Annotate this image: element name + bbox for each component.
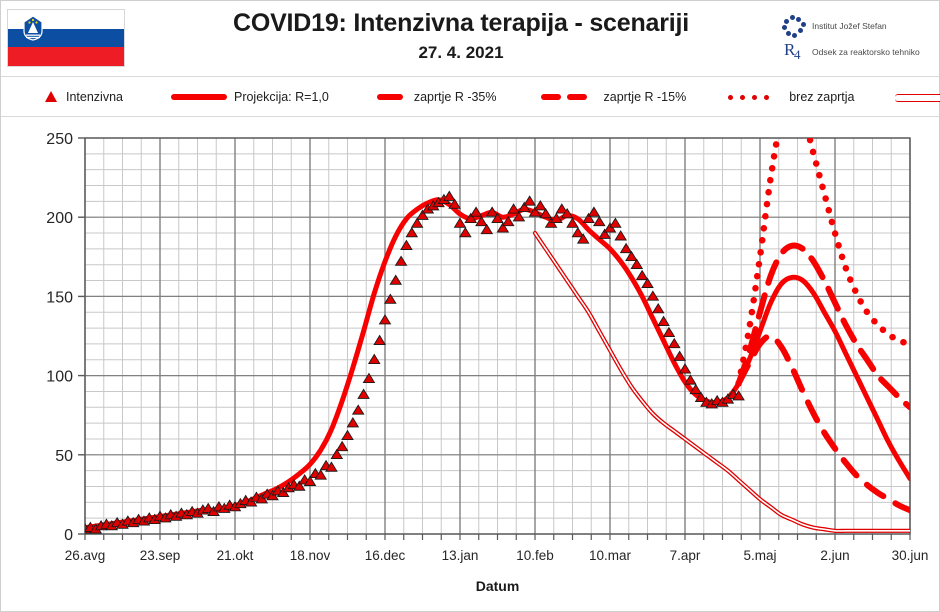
x-axis-tick-label: 10.mar	[589, 548, 632, 563]
y-axis-tick-label: 150	[46, 289, 73, 306]
page-subtitle: 27. 4. 2021	[141, 41, 781, 65]
logo-line-2: R 4 Odsek za reaktorsko tehniko	[781, 39, 920, 65]
flag-band-red	[8, 47, 124, 66]
legend-item-projekcija[interactable]: Projekcija: R=1,0	[171, 77, 329, 117]
x-axis-labels: 26.avg23.sep21.okt18.nov16.dec13.jan10.f…	[65, 548, 929, 563]
x-axis-tick-label: 30.jun	[892, 548, 929, 563]
institute-name: Institut Jožef Stefan	[812, 21, 887, 31]
chart-svg: 050100150200250 26.avg23.sep21.okt18.nov…	[1, 118, 939, 612]
y-axis-tick-label: 0	[64, 527, 73, 544]
slovenian-flag	[7, 9, 125, 67]
chart-plot-area: 050100150200250 26.avg23.sep21.okt18.nov…	[1, 118, 939, 612]
x-axis-tick-label: 26.avg	[65, 548, 106, 563]
x-axis-tick-label: 21.okt	[217, 548, 254, 563]
y-axis-tick-label: 100	[46, 369, 73, 386]
y-axis-tick-label: 250	[46, 131, 73, 148]
x-axis-tick-label: 10.feb	[516, 548, 554, 563]
x-axis-tick-label: 16.dec	[365, 548, 406, 563]
logo-line-1: Institut Jožef Stefan	[781, 13, 887, 39]
legend-item-intenzivna[interactable]: Intenzivna	[43, 77, 123, 117]
legend-label: Intenzivna	[66, 90, 123, 104]
dotted-line-icon	[726, 90, 782, 104]
r4-subscript: 4	[794, 47, 801, 63]
legend-item-brez-zaprtja[interactable]: brez zaprtja	[726, 77, 854, 117]
ijs-dots-icon	[781, 14, 807, 38]
department-name: Odsek za reaktorsko tehniko	[812, 47, 920, 57]
x-axis-tick-label: 18.nov	[290, 548, 331, 563]
x-axis-tick-label: 13.jan	[442, 548, 479, 563]
coat-of-arms-icon	[22, 15, 44, 41]
dash-line-icon	[541, 90, 597, 104]
legend-label: brez zaprtja	[789, 90, 854, 104]
x-axis-tick-label: 5.maj	[743, 548, 776, 563]
legend-item-zaprtje-35[interactable]: zaprtje R -35%	[373, 77, 497, 117]
legend-item-zaprtje-15[interactable]: zaprtje R -15%	[541, 77, 687, 117]
minor-gridlines	[85, 138, 910, 534]
y-axis-tick-label: 200	[46, 210, 73, 227]
title-block: COVID19: Intenzivna terapija - scenariji…	[141, 7, 781, 65]
x-axis-title-label: Datum	[476, 578, 520, 594]
legend-label: zaprtje R -15%	[604, 90, 687, 104]
header: COVID19: Intenzivna terapija - scenariji…	[1, 1, 939, 77]
long-dash-line-icon	[373, 90, 407, 104]
chart-legend: Intenzivna Projekcija: R=1,0 zaprtje R -…	[1, 77, 939, 117]
x-axis-tick-label: 23.sep	[140, 548, 181, 563]
y-axis-tick-label: 50	[55, 448, 73, 465]
thin-double-line-icon	[895, 90, 940, 104]
x-axis-tick-label: 2.jun	[820, 548, 849, 563]
institute-logo: Institut Jožef Stefan R 4 Odsek za reakt…	[781, 11, 931, 67]
triangle-marker-icon	[43, 90, 59, 104]
y-axis-labels: 050100150200250	[46, 131, 73, 544]
chart-page: COVID19: Intenzivna terapija - scenariji…	[0, 0, 940, 612]
page-title: COVID19: Intenzivna terapija - scenariji	[141, 7, 781, 39]
legend-label: zaprtje R -35%	[414, 90, 497, 104]
axis-tick-marks	[78, 138, 910, 540]
x-axis-title: Datum	[476, 578, 520, 594]
legend-item-brez-uk[interactable]: brez UK različice	[895, 77, 940, 117]
r4-icon: R 4	[781, 40, 807, 64]
solid-line-icon	[171, 90, 227, 104]
legend-label: Projekcija: R=1,0	[234, 90, 329, 104]
x-axis-tick-label: 7.apr	[670, 548, 701, 563]
